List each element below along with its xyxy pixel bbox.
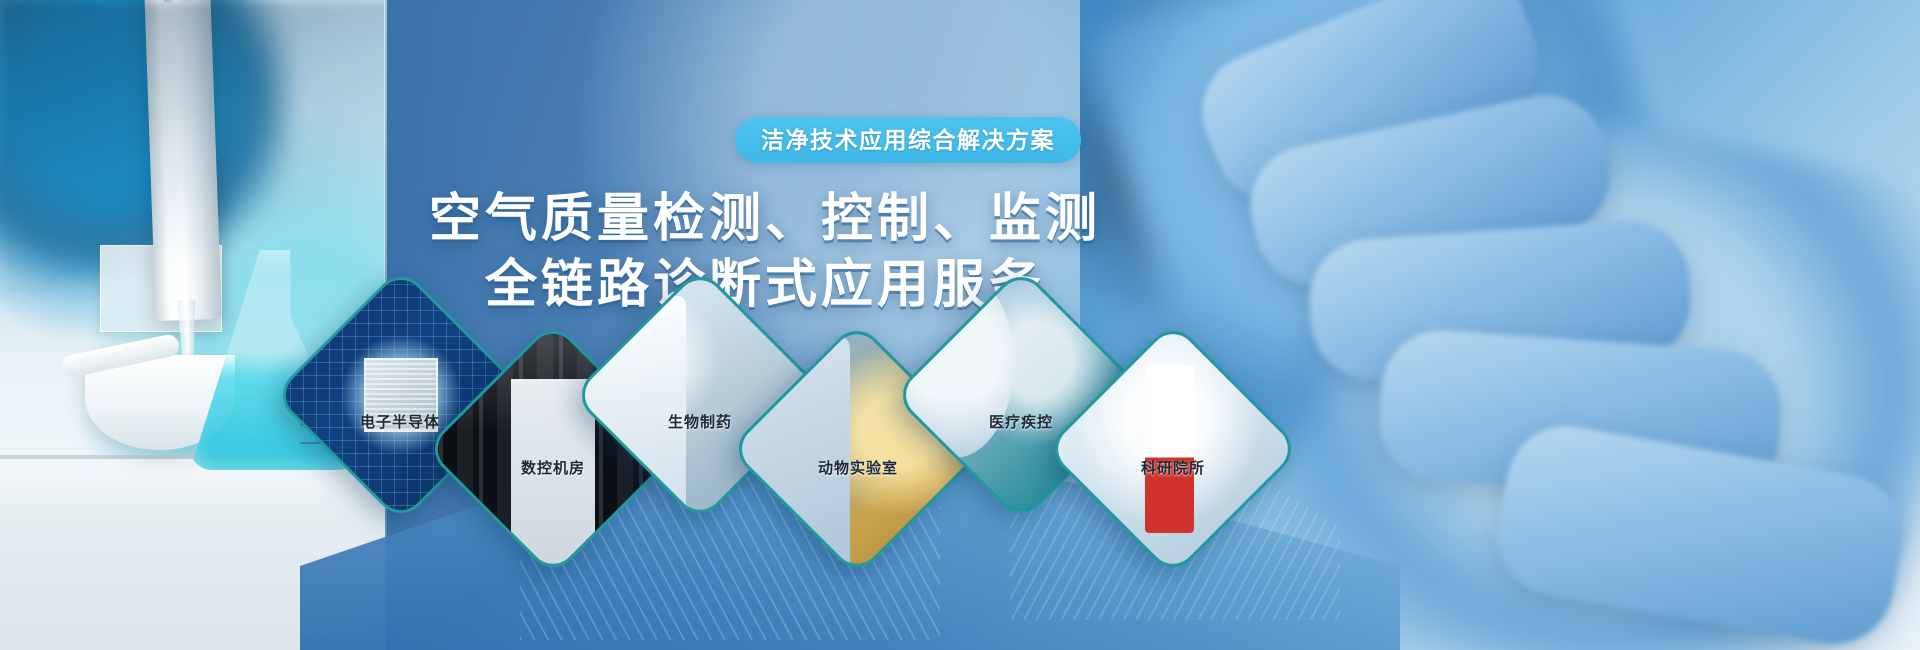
industry-tiles-row: 电子半导体 数控机房 生物制药 动物实验室 医疗疾控 科研院所 xyxy=(0,0,1920,650)
industry-tile-label-datacenter: 数控机房 xyxy=(521,457,585,478)
industry-tile-label-research: 科研院所 xyxy=(1141,457,1205,478)
industry-tile-label-electronics: 电子半导体 xyxy=(360,411,440,432)
industry-tile-label-animal-lab: 动物实验室 xyxy=(818,457,898,478)
industry-tile-label-medical: 医疗疾控 xyxy=(989,411,1053,432)
industry-tile-label-biopharma: 生物制药 xyxy=(668,411,732,432)
hero-banner: 洁净技术应用综合解决方案 空气质量检测、控制、监测 全链路诊断式应用服务 电子半… xyxy=(0,0,1920,650)
